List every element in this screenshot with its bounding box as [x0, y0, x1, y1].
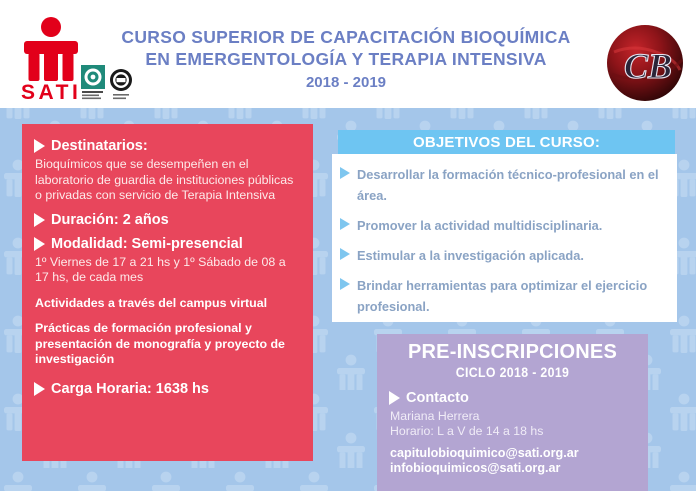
- objectives-header: OBJETIVOS DEL CURSO:: [338, 130, 675, 154]
- objective-item: Promover la actividad multidisciplinaria…: [340, 215, 665, 236]
- page-title-years: 2018 - 2019: [96, 72, 596, 94]
- triangle-bullet-icon: [34, 213, 45, 227]
- triangle-bullet-icon: [340, 218, 350, 230]
- modalidad-label: Modalidad: Semi-presencial: [51, 236, 243, 252]
- duracion-heading: Duración: 2 años: [34, 212, 299, 228]
- details-panel: Destinatarios: Bioquímicos que se desemp…: [22, 124, 313, 461]
- destinatarios-label: Destinatarios:: [51, 138, 148, 154]
- preinscriptions-title: PRE-INSCRIPCIONES: [377, 340, 648, 364]
- header-band: SATI CURSO SUPERIOR DE CAPACITACIÓN BIOQ…: [0, 0, 696, 108]
- triangle-bullet-icon: [340, 248, 350, 260]
- objective-text: Desarrollar la formación técnico-profesi…: [357, 164, 665, 206]
- objective-text: Estimular a la investigación aplicada.: [357, 245, 584, 266]
- header-titles: CURSO SUPERIOR DE CAPACITACIÓN BIOQUÍMIC…: [96, 26, 596, 94]
- triangle-bullet-icon: [34, 139, 45, 153]
- triangle-bullet-icon: [389, 391, 400, 405]
- campus-virtual-text: Actividades a través del campus virtual: [35, 296, 299, 312]
- carga-horaria-label: Carga Horaria: 1638 hs: [51, 381, 209, 397]
- page-title-line2: EN EMERGENTOLOGÍA Y TERAPIA INTENSIVA: [96, 48, 596, 70]
- carga-horaria-heading: Carga Horaria: 1638 hs: [34, 381, 299, 397]
- destinatarios-text: Bioquímicos que se desempeñen en el labo…: [35, 157, 299, 204]
- triangle-bullet-icon: [340, 278, 350, 290]
- contact-hours: Horario: L a V de 14 a 18 hs: [390, 424, 648, 439]
- objectives-panel: Desarrollar la formación técnico-profesi…: [332, 154, 677, 322]
- modalidad-heading: Modalidad: Semi-presencial: [34, 236, 299, 252]
- objective-item: Brindar herramientas para optimizar el e…: [340, 275, 665, 317]
- duracion-label: Duración: 2 años: [51, 212, 169, 228]
- svg-text:CB: CB: [624, 46, 672, 86]
- cb-logo: CB: [604, 22, 686, 104]
- preinscriptions-subtitle: CICLO 2018 - 2019: [393, 364, 631, 381]
- preinscriptions-panel: PRE-INSCRIPCIONES CICLO 2018 - 2019 Cont…: [377, 334, 648, 491]
- triangle-bullet-icon: [34, 237, 45, 251]
- contact-name: Mariana Herrera: [390, 409, 648, 424]
- contacto-label: Contacto: [406, 390, 469, 406]
- objective-text: Promover la actividad multidisciplinaria…: [357, 215, 602, 236]
- contacto-heading: Contacto: [389, 390, 648, 406]
- poster-canvas: SATI CURSO SUPERIOR DE CAPACITACIÓN BIOQ…: [0, 0, 696, 491]
- objective-item: Estimular a la investigación aplicada.: [340, 245, 665, 266]
- objectives-header-label: OBJETIVOS DEL CURSO:: [413, 134, 600, 151]
- contact-email-secondary[interactable]: infobioquimicos@sati.org.ar: [390, 461, 648, 476]
- destinatarios-heading: Destinatarios:: [34, 138, 299, 154]
- triangle-bullet-icon: [340, 167, 350, 179]
- page-title-line1: CURSO SUPERIOR DE CAPACITACIÓN BIOQUÍMIC…: [96, 26, 596, 48]
- objective-text: Brindar herramientas para optimizar el e…: [357, 275, 665, 317]
- practicas-text: Prácticas de formación profesional y pre…: [35, 321, 299, 368]
- contact-email-primary[interactable]: capitulobioquimico@sati.org.ar: [390, 446, 648, 461]
- modalidad-text: 1º Viernes de 17 a 21 hs y 1º Sábado de …: [35, 255, 299, 286]
- triangle-bullet-icon: [34, 382, 45, 396]
- svg-text:SATI: SATI: [21, 81, 81, 102]
- objective-item: Desarrollar la formación técnico-profesi…: [340, 164, 665, 206]
